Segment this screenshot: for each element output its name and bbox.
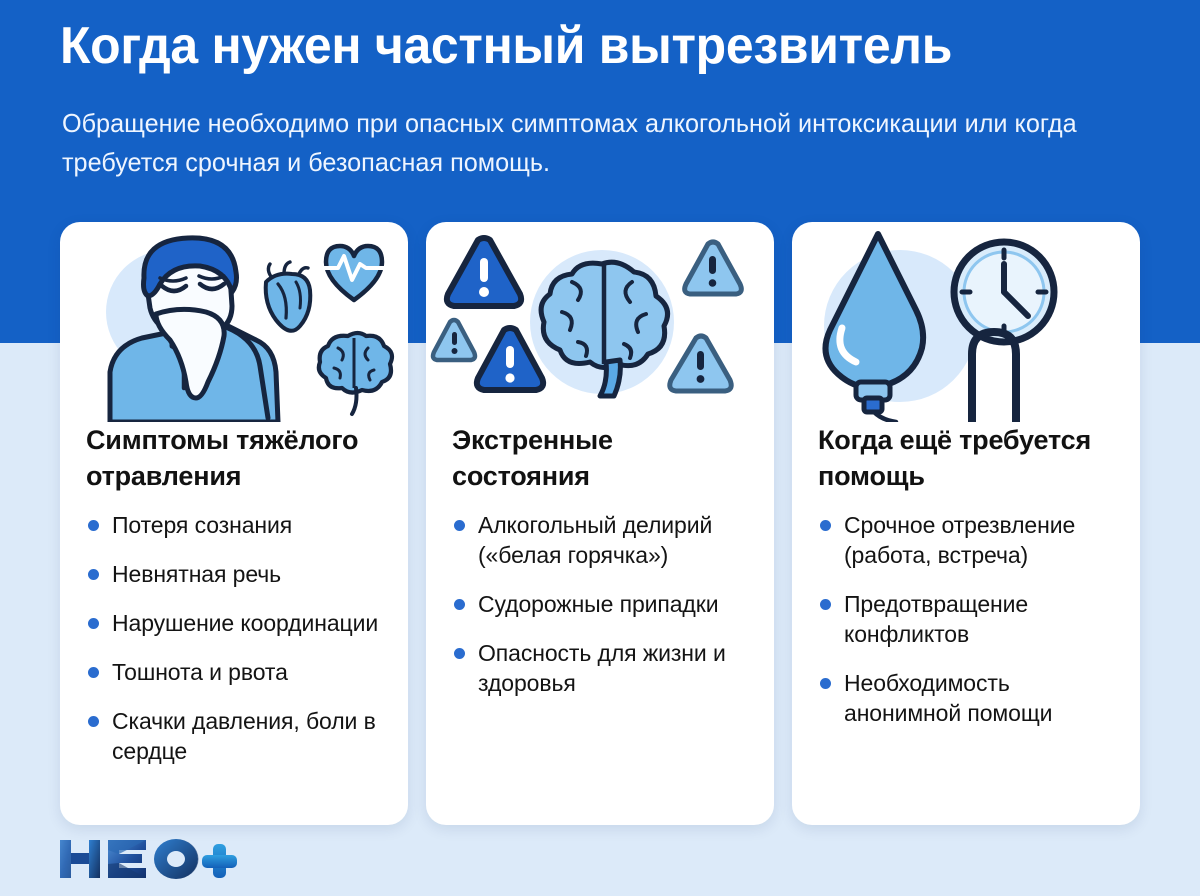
sick-man-heart-brain-illustration <box>60 222 408 422</box>
card-body: Экстренные состояния Алкогольный делирий… <box>426 422 774 825</box>
card-emergency-states[interactable]: Экстренные состояния Алкогольный делирий… <box>426 222 774 825</box>
logo-plus-mark <box>202 844 237 878</box>
card-heading: Симптомы тяжёлого отравления <box>86 422 382 494</box>
list-item: Предотвращение конфликтов <box>818 589 1114 649</box>
clock-icon <box>954 242 1054 342</box>
card-heading: Когда ещё требуется помощь <box>818 422 1114 494</box>
heart-pulse-icon <box>318 246 384 300</box>
page-title: Когда нужен частный вытрезвитель <box>60 14 1116 78</box>
iv-stand-hook-icon <box>972 332 1016 422</box>
iv-drip-clock-illustration <box>792 222 1140 422</box>
list-item: Алкогольный делирий («белая горячка») <box>452 510 748 570</box>
neo-plus-logo[interactable] <box>58 838 248 880</box>
warning-triangle-icon <box>433 320 475 360</box>
card-severe-poisoning[interactable]: Симптомы тяжёлого отравления Потеря созн… <box>60 222 408 825</box>
bullet-list: Алкогольный делирий («белая горячка») Су… <box>452 510 748 698</box>
brain-icon <box>319 333 392 414</box>
list-item: Скачки давления, боли в сердце <box>86 706 382 766</box>
warning-triangle-icon <box>447 238 521 306</box>
card-body: Когда ещё требуется помощь Срочное отрез… <box>792 422 1140 825</box>
list-item: Нарушение координации <box>86 608 382 638</box>
card-heading: Экстренные состояния <box>452 422 748 494</box>
bullet-list: Потеря сознания Невнятная речь Нарушение… <box>86 510 382 766</box>
cards-row: Симптомы тяжёлого отравления Потеря созн… <box>60 222 1140 825</box>
logo-letter-o <box>154 839 199 879</box>
list-item: Невнятная речь <box>86 559 382 589</box>
list-item: Опасность для жизни и здоровья <box>452 638 748 698</box>
list-item: Потеря сознания <box>86 510 382 540</box>
list-item: Срочное отрезвление (работа, встреча) <box>818 510 1114 570</box>
page-subtitle: Обращение необходимо при опасных симптом… <box>62 104 1110 182</box>
bullet-list: Срочное отрезвление (работа, встреча) Пр… <box>818 510 1114 728</box>
logo-letter-e <box>108 840 146 878</box>
card-other-help[interactable]: Когда ещё требуется помощь Срочное отрез… <box>792 222 1140 825</box>
list-item: Судорожные припадки <box>452 589 748 619</box>
list-item: Тошнота и рвота <box>86 657 382 687</box>
card-body: Симптомы тяжёлого отравления Потеря созн… <box>60 422 408 825</box>
infographic-page: Когда нужен частный вытрезвитель Обращен… <box>0 0 1200 896</box>
warning-triangle-icon <box>685 242 742 294</box>
list-item: Необходимость анонимной помощи <box>818 668 1114 728</box>
logo-letter-n <box>60 840 100 878</box>
warning-triangle-icon <box>670 336 731 391</box>
anatomical-heart-icon <box>266 262 311 331</box>
brain-warning-triangles-illustration <box>426 222 774 422</box>
